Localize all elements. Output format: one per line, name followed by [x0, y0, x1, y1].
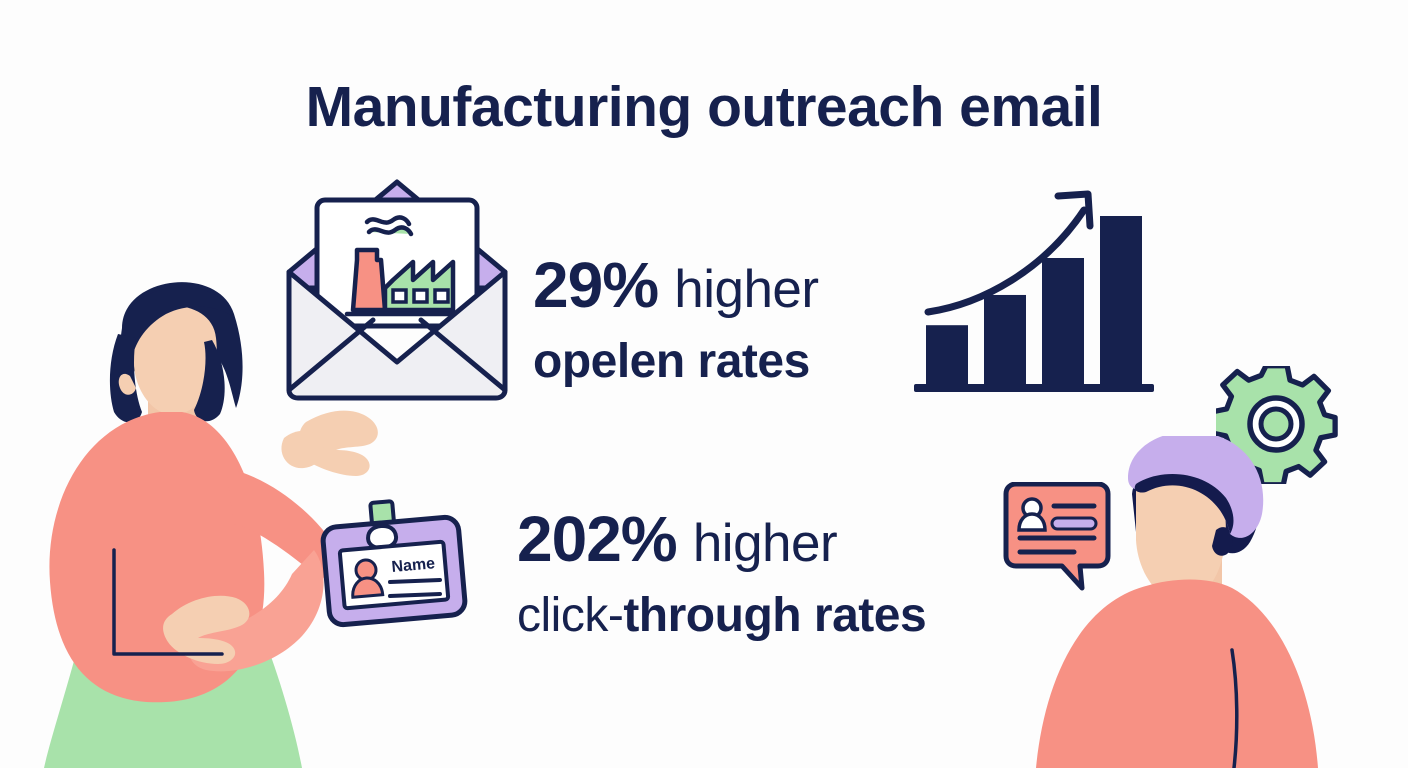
stat-open-rates-value: 29%: [533, 249, 658, 321]
page-title: Manufacturing outreach email: [0, 74, 1408, 140]
stat-click-through-headline: 202% higher: [517, 502, 926, 581]
stat-open-rates-suffix: higher: [674, 260, 818, 319]
stat-open-rates-descriptor-strong: opelen rates: [533, 335, 810, 388]
chart-baseline: [914, 384, 1154, 392]
stat-open-rates-headline: 29% higher: [533, 248, 819, 327]
stat-click-through-suffix: higher: [693, 514, 837, 573]
stat-click-through-descriptor-light: click-: [517, 589, 623, 642]
bar-2: [984, 295, 1026, 384]
bar-1: [926, 325, 968, 384]
bar-4: [1100, 216, 1142, 384]
stat-open-rates-descriptor: opelen rates: [533, 327, 819, 397]
stat-click-through-value: 202%: [517, 503, 677, 575]
bar-3: [1042, 258, 1084, 384]
infographic-canvas: Manufacturing outreach email: [0, 0, 1408, 768]
stat-open-rates: 29% higher opelen rates: [533, 248, 819, 397]
stat-click-through-descriptor-strong: through rates: [623, 589, 926, 642]
stat-click-through-rates: 202% higher click-through rates: [517, 502, 926, 651]
man-with-cap-illustration: [1036, 436, 1408, 768]
envelope-icon: [281, 176, 513, 404]
stat-click-through-descriptor: click-through rates: [517, 581, 926, 651]
id-badge-icon: Name: [310, 496, 478, 628]
ascending-bar-chart-icon: [912, 178, 1172, 406]
